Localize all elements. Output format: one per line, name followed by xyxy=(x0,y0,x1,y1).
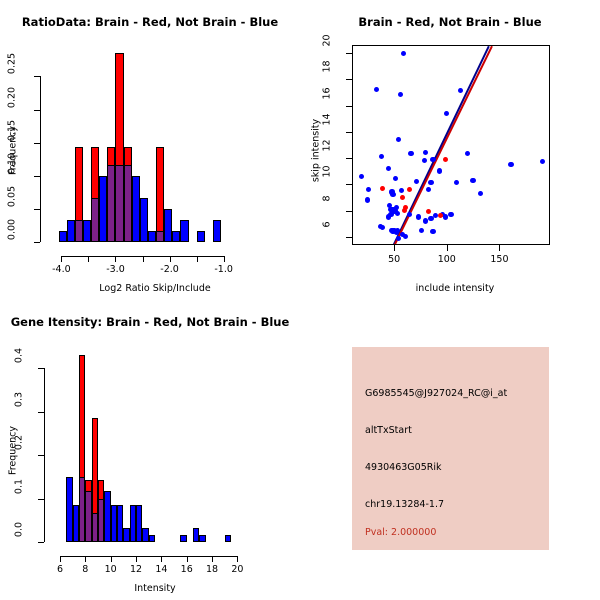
scatter-point-notbrain xyxy=(374,87,379,92)
scatter-x-tick-label: 50 xyxy=(376,254,412,265)
gene-bar-notbrain xyxy=(225,535,231,542)
ratio-bar-overlap xyxy=(75,220,83,242)
scatter-frame xyxy=(352,45,550,245)
scatter-point-notbrain xyxy=(386,166,391,171)
ratio-bar-brain xyxy=(156,147,164,242)
scatter-point-notbrain xyxy=(386,214,391,219)
info-pval: Pval: 2.000000 xyxy=(365,527,436,538)
scatter-point-notbrain xyxy=(394,205,399,210)
scatter-x-tick xyxy=(499,245,500,251)
scatter-x-tick-label: 100 xyxy=(429,254,465,265)
ratio-bar-notbrain xyxy=(140,198,148,242)
scatter-point-notbrain xyxy=(416,214,421,219)
scatter-point-notbrain xyxy=(395,228,400,233)
ratio-y-tick-label: 0.25 xyxy=(7,46,18,82)
gene-x-axis xyxy=(60,556,237,557)
scatter-y-tick xyxy=(346,79,352,80)
scatter-point-notbrain xyxy=(508,162,513,167)
scatter-point-notbrain xyxy=(365,197,370,202)
scatter-point-notbrain xyxy=(426,187,431,192)
gene-x-tick-label: 20 xyxy=(222,564,252,575)
gene-x-tick xyxy=(111,556,112,562)
gene-y-tick xyxy=(38,455,44,456)
scatter-y-tick xyxy=(346,184,352,185)
scatter-point-notbrain xyxy=(437,168,442,173)
panel-gene-histogram: Gene Itensity: Brain - Red, Not Brain - … xyxy=(0,300,300,600)
scatter-point-notbrain xyxy=(396,137,401,142)
scatter-point-notbrain xyxy=(444,111,449,116)
panel-ratio-histogram: RatioData: Brain - Red, Not Brain - Blue… xyxy=(0,0,300,300)
ratio-x-tick xyxy=(61,256,62,262)
ratio-bar-overlap xyxy=(124,165,132,242)
scatter-point-notbrain xyxy=(422,158,427,163)
ratio-x-tick-label: -4.0 xyxy=(41,264,81,275)
ratio-bar-notbrain xyxy=(172,231,180,242)
scatter-point-brain xyxy=(407,187,412,192)
ratio-y-tick-label: 0.05 xyxy=(7,178,18,214)
scatter-point-notbrain xyxy=(419,228,424,233)
ratio-y-tick-label: 0.15 xyxy=(7,112,18,148)
scatter-y-tick-label: 8 xyxy=(322,185,333,211)
ratio-bar-notbrain xyxy=(59,231,67,242)
scatter-point-notbrain xyxy=(401,51,406,56)
gene-y-axis xyxy=(44,368,45,542)
ratio-x-tick xyxy=(170,256,171,262)
scatter-point-notbrain xyxy=(433,213,438,218)
scatter-point-notbrain xyxy=(396,236,401,241)
gene-histogram-plot-area: 0.00.10.20.30.468101214161820 xyxy=(0,300,300,600)
scatter-point-notbrain xyxy=(458,88,463,93)
ratio-x-tick xyxy=(115,256,116,262)
gene-y-tick xyxy=(38,412,44,413)
scatter-y-tick xyxy=(346,53,352,54)
scatter-y-tick-label: 14 xyxy=(322,106,333,132)
gene-x-tick xyxy=(187,556,188,562)
gene-y-tick xyxy=(38,499,44,500)
scatter-x-tick-label: 150 xyxy=(481,254,517,265)
gene-y-tick-label: 0.4 xyxy=(14,341,25,371)
scatter-point-notbrain xyxy=(380,225,385,230)
info-probe-id: G6985545@J927024_RC@i_at xyxy=(365,388,507,399)
scatter-y-tick-label: 18 xyxy=(322,54,333,80)
ratio-x-tick-label: -2.0 xyxy=(150,264,190,275)
scatter-point-notbrain xyxy=(465,151,470,156)
scatter-point-notbrain xyxy=(448,212,453,217)
scatter-point-notbrain xyxy=(540,159,545,164)
scatter-y-tick xyxy=(346,237,352,238)
scatter-point-notbrain xyxy=(366,187,371,192)
scatter-point-notbrain xyxy=(423,150,428,155)
gene-y-tick xyxy=(38,368,44,369)
ratio-bar-notbrain xyxy=(83,220,91,242)
ratio-y-tick-label: 0.20 xyxy=(7,79,18,115)
gene-x-tick xyxy=(60,556,61,562)
ratio-bar-notbrain xyxy=(148,231,156,242)
scatter-point-notbrain xyxy=(407,212,412,217)
ratio-y-tick xyxy=(34,176,40,177)
ratio-bar-overlap xyxy=(107,165,115,242)
ratio-x-tick-label: -3.0 xyxy=(95,264,135,275)
scatter-x-tick xyxy=(394,245,395,251)
ratio-bar-notbrain xyxy=(67,220,75,242)
ratio-x-tick xyxy=(224,256,225,262)
scatter-y-tick xyxy=(346,132,352,133)
scatter-point-notbrain xyxy=(430,229,435,234)
ratio-bar-notbrain xyxy=(213,220,221,242)
ratio-x-tick xyxy=(143,256,144,262)
scatter-y-tick xyxy=(346,211,352,212)
ratio-bar-notbrain xyxy=(132,176,140,242)
gene-bar-notbrain xyxy=(199,535,205,542)
scatter-y-tick-label: 12 xyxy=(322,133,333,159)
ratio-x-tick xyxy=(88,256,89,262)
scatter-point-notbrain xyxy=(399,188,404,193)
ratio-x-tick xyxy=(197,256,198,262)
scatter-y-tick xyxy=(346,158,352,159)
panel-scatter: Brain - Red, Not Brain - Blue skip inten… xyxy=(300,0,600,300)
gene-y-tick-label: 0.2 xyxy=(14,428,25,458)
ratio-bar-notbrain xyxy=(197,231,205,242)
scatter-y-tick-label: 16 xyxy=(322,80,333,106)
gene-y-tick-label: 0.3 xyxy=(14,384,25,414)
gene-x-tick xyxy=(136,556,137,562)
info-event-type: altTxStart xyxy=(365,425,412,436)
ratio-y-tick xyxy=(34,76,40,77)
gene-x-tick xyxy=(237,556,238,562)
info-locus: chr19.13284-1.7 xyxy=(365,499,444,510)
scatter-point-brain xyxy=(380,186,385,191)
gene-y-tick-label: 0.0 xyxy=(14,515,25,545)
scatter-point-notbrain xyxy=(470,178,475,183)
scatter-point-notbrain xyxy=(379,154,384,159)
scatter-x-tick xyxy=(447,245,448,251)
ratio-y-tick xyxy=(34,143,40,144)
ratio-bar-notbrain xyxy=(99,176,107,242)
gene-x-tick xyxy=(161,556,162,562)
gene-bar-notbrain xyxy=(180,535,186,542)
scatter-point-notbrain xyxy=(478,191,483,196)
scatter-point-brain xyxy=(426,209,431,214)
gene-bar-notbrain xyxy=(149,535,155,542)
ratio-bar-overlap xyxy=(156,231,164,242)
scatter-point-notbrain xyxy=(403,234,408,239)
scatter-point-notbrain xyxy=(390,192,395,197)
gene-x-tick xyxy=(85,556,86,562)
scatter-point-notbrain xyxy=(408,151,413,156)
ratio-bar-overlap xyxy=(91,198,99,242)
ratio-y-tick-label: 0.10 xyxy=(7,145,18,181)
scatter-point-notbrain xyxy=(398,92,403,97)
gene-x-tick xyxy=(212,556,213,562)
gene-info-panel: G6985545@J927024_RC@i_at altTxStart 4930… xyxy=(352,347,549,550)
figure-canvas: RatioData: Brain - Red, Not Brain - Blue… xyxy=(0,0,600,600)
scatter-point-notbrain xyxy=(430,157,435,162)
info-gene-symbol: 4930463G05Rik xyxy=(365,462,442,473)
scatter-point-notbrain xyxy=(428,180,433,185)
ratio-y-tick-label: 0.00 xyxy=(7,212,18,248)
ratio-bar-overlap xyxy=(115,165,123,242)
scatter-point-brain xyxy=(400,195,405,200)
ratio-bar-notbrain xyxy=(164,209,172,242)
scatter-plot-area: 6810121416182050100150 xyxy=(300,0,600,300)
scatter-y-tick-label: 10 xyxy=(322,159,333,185)
scatter-point-notbrain xyxy=(454,180,459,185)
scatter-point-brain xyxy=(443,157,448,162)
ratio-bar-notbrain xyxy=(180,220,188,242)
scatter-point-notbrain xyxy=(395,211,400,216)
scatter-y-tick-label: 20 xyxy=(322,27,333,53)
ratio-y-tick xyxy=(34,209,40,210)
scatter-point-notbrain xyxy=(393,176,398,181)
gene-y-tick-label: 0.1 xyxy=(14,471,25,501)
gene-y-tick xyxy=(38,542,44,543)
ratio-y-axis xyxy=(40,76,41,242)
ratio-x-tick-label: -1.0 xyxy=(204,264,244,275)
scatter-point-notbrain xyxy=(414,179,419,184)
ratio-histogram-plot-area: 0.000.050.100.150.200.25-4.0-3.0-2.0-1.0 xyxy=(0,0,300,300)
ratio-y-tick xyxy=(34,110,40,111)
scatter-y-tick-label: 6 xyxy=(322,212,333,238)
scatter-point-notbrain xyxy=(359,174,364,179)
scatter-y-tick xyxy=(346,106,352,107)
ratio-y-tick xyxy=(34,242,40,243)
